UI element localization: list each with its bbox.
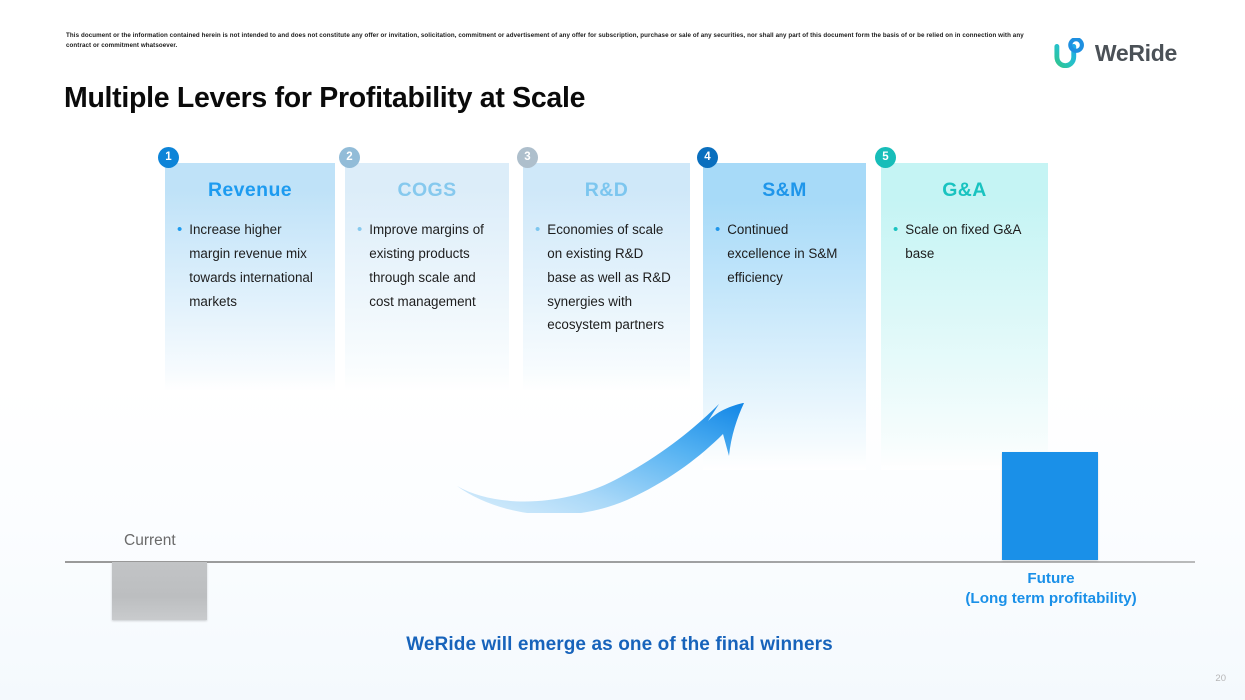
bullet-glyph-icon: • — [893, 218, 898, 266]
lever-card-ga: G&A • Scale on fixed G&A base — [881, 163, 1048, 470]
bullet-glyph-icon: • — [177, 218, 182, 313]
lever-card-bullet-text: Continued excellence in S&M efficiency — [727, 218, 852, 290]
page-number: 20 — [1215, 673, 1226, 684]
bullet-glyph-icon: • — [715, 218, 720, 290]
lever-card-body: • Increase higher margin revenue mix tow… — [177, 218, 321, 313]
lever-card-title: COGS — [345, 179, 509, 202]
lever-card-title: Revenue — [165, 179, 335, 202]
lever-card-rd: R&D • Economies of scale on existing R&D… — [523, 163, 690, 391]
lever-badge-3: 3 — [517, 147, 538, 168]
bullet-glyph-icon: • — [357, 218, 362, 313]
lever-badge-2: 2 — [339, 147, 360, 168]
lever-card-bullet-text: Economies of scale on existing R&D base … — [547, 218, 676, 337]
lever-badge-4: 4 — [697, 147, 718, 168]
current-bar-label: Current — [124, 532, 176, 550]
future-bar-label: Future (Long term profitability) — [905, 569, 1197, 609]
tagline-text: WeRide will emerge as one of the final w… — [406, 634, 833, 656]
lever-badge-5: 5 — [875, 147, 896, 168]
current-bar — [112, 562, 207, 620]
future-bar-label-line2: (Long term profitability) — [905, 589, 1197, 609]
lever-card-title: G&A — [881, 179, 1048, 202]
lever-card-cogs: COGS • Improve margins of existing produ… — [345, 163, 509, 391]
lever-card-revenue: Revenue • Increase higher margin revenue… — [165, 163, 335, 391]
future-bar-label-line1: Future — [905, 569, 1197, 589]
lever-card-body: • Continued excellence in S&M efficiency — [715, 218, 852, 290]
lever-card-body: • Improve margins of existing products t… — [357, 218, 495, 313]
lever-card-bullet-text: Scale on fixed G&A base — [905, 218, 1034, 266]
baseline-axis — [65, 561, 1195, 563]
lever-card-bullet-text: Improve margins of existing products thr… — [369, 218, 495, 313]
lever-card-bullet-text: Increase higher margin revenue mix towar… — [189, 218, 321, 313]
future-bar — [1002, 452, 1098, 560]
lever-card-body: • Economies of scale on existing R&D bas… — [535, 218, 676, 337]
lever-card-body: • Scale on fixed G&A base — [893, 218, 1034, 266]
lever-badge-1: 1 — [158, 147, 179, 168]
curved-up-arrow-icon — [455, 388, 765, 513]
tagline: WeRide will emerge as one of the final w… — [0, 634, 1245, 656]
lever-card-title: S&M — [703, 179, 866, 202]
lever-card-title: R&D — [523, 179, 690, 202]
bullet-glyph-icon: • — [535, 218, 540, 337]
